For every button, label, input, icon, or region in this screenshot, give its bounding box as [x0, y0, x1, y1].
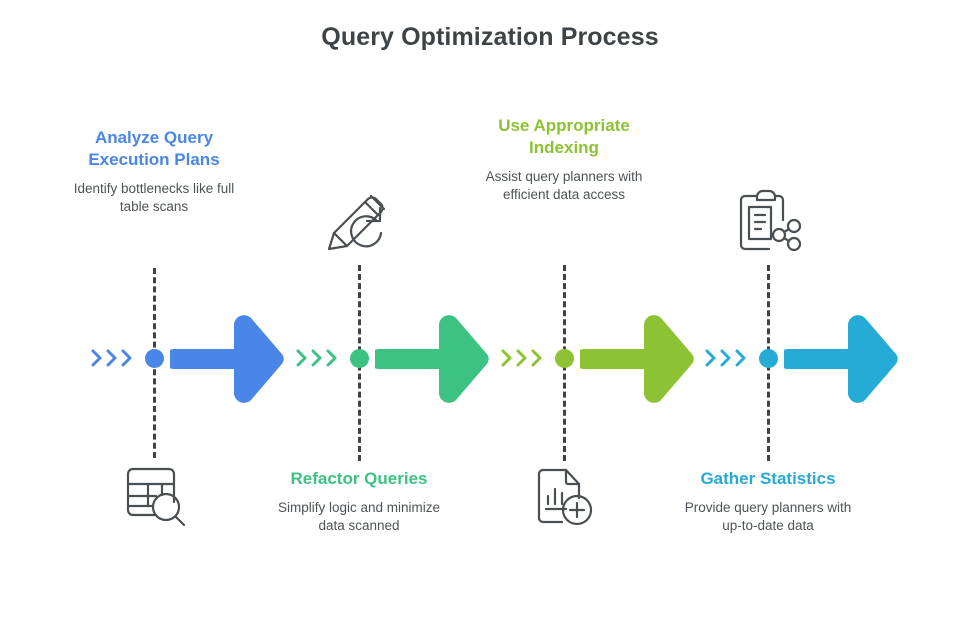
step-1-text-block: Analyze Query Execution Plans Identify b… [68, 127, 240, 216]
chevron-right-icon [719, 348, 733, 368]
step-2-description: Simplify logic and minimize data scanned [273, 499, 445, 535]
step-1-chevrons [90, 345, 134, 371]
step-4-arrow [784, 307, 900, 416]
step-3-icon [532, 465, 596, 529]
clipboard-share-icon [734, 188, 802, 254]
step-4-icon [734, 188, 802, 254]
page-title: Query Optimization Process [0, 23, 980, 52]
step-3-chevrons [500, 345, 544, 371]
step-1-title: Analyze Query Execution Plans [68, 127, 240, 171]
chevron-right-icon [325, 348, 339, 368]
step-1-icon [122, 463, 188, 529]
step-2-arrow [375, 307, 491, 416]
arrow-right-icon [375, 307, 491, 411]
document-chart-add-icon [532, 465, 596, 529]
step-3-title: Use Appropriate Indexing [478, 115, 650, 159]
step-2-title: Refactor Queries [273, 468, 445, 490]
step-3-description: Assist query planners with efficient dat… [478, 168, 650, 204]
chevron-right-icon [734, 348, 748, 368]
pencil-refresh-icon [325, 190, 393, 256]
step-3-text-block: Use Appropriate Indexing Assist query pl… [478, 115, 650, 204]
step-4-node-dot [759, 349, 778, 368]
step-2-chevrons [295, 345, 339, 371]
infographic-canvas: Query Optimization Process Analyze Query… [0, 0, 980, 617]
step-1-arrow [170, 307, 286, 416]
arrow-right-icon [784, 307, 900, 411]
chevron-right-icon [120, 348, 134, 368]
step-3-arrow [580, 307, 696, 416]
arrow-right-icon [580, 307, 696, 411]
step-2-icon [325, 190, 393, 256]
step-3-node-dot [555, 349, 574, 368]
step-4-title: Gather Statistics [682, 468, 854, 490]
step-1-description: Identify bottlenecks like full table sca… [68, 180, 240, 216]
step-4-description: Provide query planners with up-to-date d… [682, 499, 854, 535]
step-2-text-block: Refactor Queries Simplify logic and mini… [273, 468, 445, 535]
chevron-right-icon [295, 348, 309, 368]
chevron-right-icon [515, 348, 529, 368]
chevron-right-icon [704, 348, 718, 368]
chevron-right-icon [310, 348, 324, 368]
chevron-right-icon [105, 348, 119, 368]
arrow-right-icon [170, 307, 286, 411]
step-4-text-block: Gather Statistics Provide query planners… [682, 468, 854, 535]
table-search-icon [122, 463, 188, 529]
chevron-right-icon [90, 348, 104, 368]
step-1-node-dot [145, 349, 164, 368]
chevron-right-icon [530, 348, 544, 368]
step-4-chevrons [704, 345, 748, 371]
step-2-node-dot [350, 349, 369, 368]
chevron-right-icon [500, 348, 514, 368]
